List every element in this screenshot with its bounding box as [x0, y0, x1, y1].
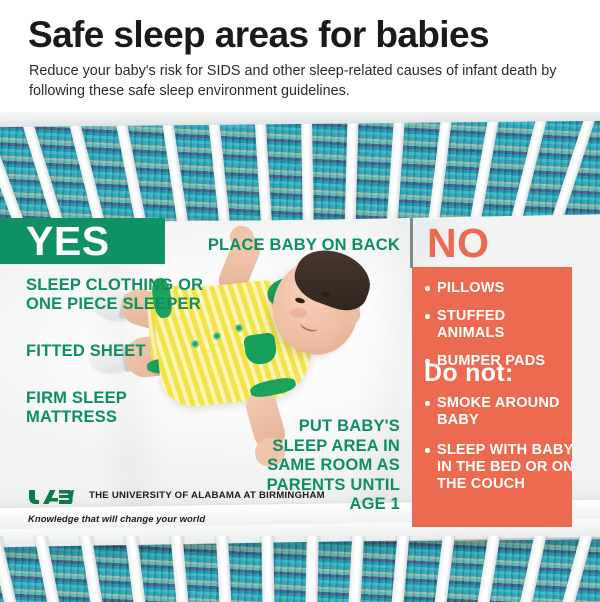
crib-slat [79, 536, 105, 602]
crib-slat [390, 536, 410, 602]
uab-logo: The University of Alabama at Birmingham … [28, 487, 258, 524]
baby-romper-button [235, 324, 243, 332]
crib-photo: YES Sleep clothing or one piece sleeper … [0, 112, 600, 602]
yes-label: YES [26, 220, 110, 263]
crib-slat [433, 536, 456, 602]
uab-wordmark-icon [28, 487, 82, 506]
uab-logo-row: The University of Alabama at Birmingham [28, 487, 258, 506]
do-not-list-item: Sleep with baby in the bed or on the cou… [424, 442, 574, 493]
crib-slat [125, 536, 148, 602]
no-panel-divider [410, 218, 413, 268]
yes-list-item: Sleep clothing or one piece sleeper [26, 276, 206, 314]
yes-list: Sleep clothing or one piece sleeper Fitt… [26, 276, 206, 455]
no-list-item: Pillows [424, 280, 570, 297]
crib-slat [216, 536, 233, 602]
crib-slat [34, 536, 63, 602]
yes-list-item: Firm sleep mattress [26, 389, 206, 427]
crib-slat [475, 536, 501, 602]
crib-slat [517, 536, 547, 602]
note-place-baby-on-back: Place baby on back [200, 236, 400, 256]
no-label: NO [427, 222, 490, 265]
baby-romper-button [213, 332, 221, 340]
crib-slat [348, 536, 365, 602]
crib-slat [0, 536, 20, 602]
page-subtitle: Reduce your baby's risk for SIDS and oth… [29, 62, 569, 101]
do-not-list: Smoke around baby Sleep with baby in the… [424, 395, 574, 506]
do-not-heading: Do not: [424, 360, 514, 387]
uab-tagline: Knowledge that will change your world [28, 513, 258, 524]
infographic-root: Safe sleep areas for babies Reduce your … [0, 0, 600, 602]
header: Safe sleep areas for babies Reduce your … [0, 0, 600, 112]
crib-top-rail [0, 112, 600, 127]
crib-slat [305, 536, 319, 602]
crib-slat [170, 536, 190, 602]
baby-cheek [291, 308, 307, 318]
crib-slats-bottom [0, 536, 600, 602]
no-list-item: Stuffed animals [424, 308, 570, 342]
crib-slat [261, 536, 275, 602]
page-title: Safe sleep areas for babies [28, 14, 489, 56]
uab-institution-name: The University of Alabama at Birmingham [89, 491, 325, 502]
yes-list-item: Fitted sheet [26, 342, 206, 361]
do-not-list-item: Smoke around baby [424, 395, 574, 429]
crib-slat [559, 536, 594, 602]
